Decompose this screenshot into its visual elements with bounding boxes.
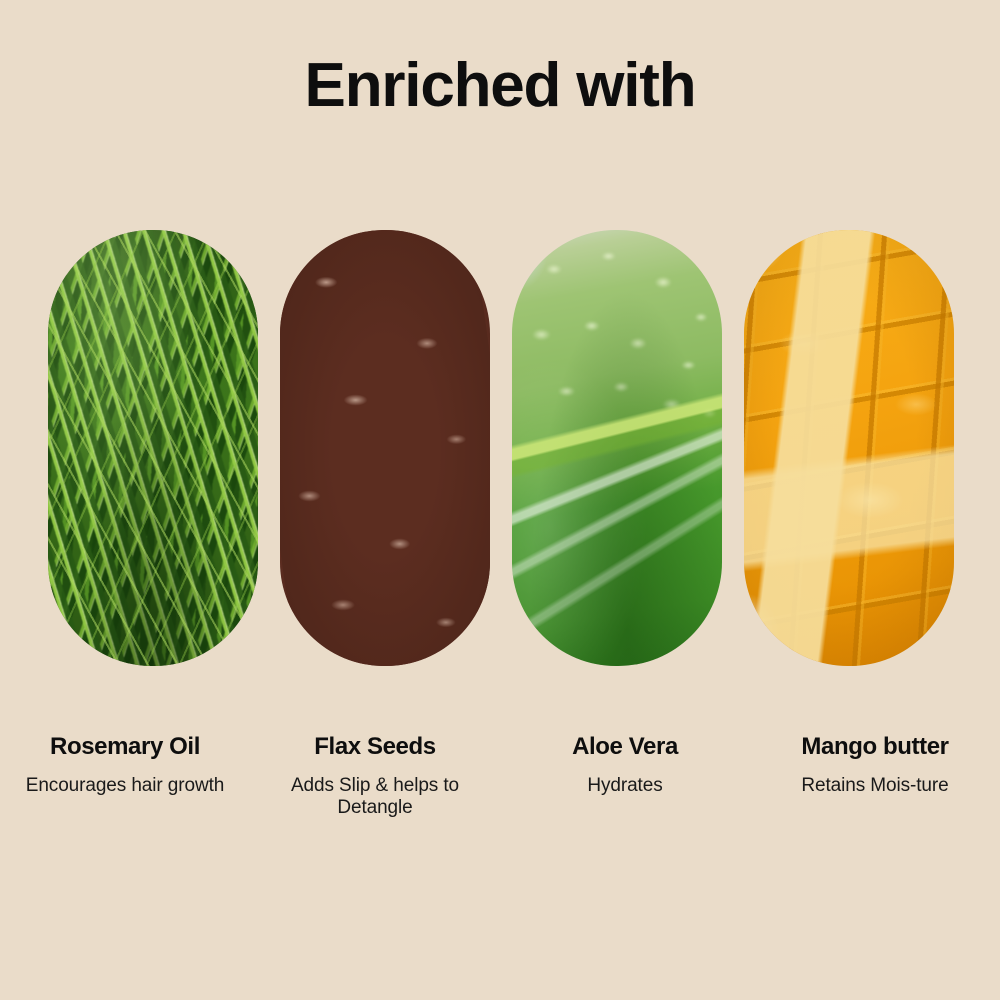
ingredient-name-rosemary-oil: Rosemary Oil bbox=[6, 733, 244, 762]
ingredient-card-aloe-vera bbox=[512, 230, 722, 666]
ingredient-name-mango-butter: Mango butter bbox=[756, 733, 994, 762]
rosemary-sprigs-photo bbox=[48, 230, 258, 666]
ingredient-description-rosemary-oil: Encourages hair growth bbox=[6, 775, 244, 797]
page-title: Enriched with bbox=[0, 52, 1000, 120]
ingredient-card-mango-butter bbox=[744, 230, 954, 666]
ingredient-caption-row: Rosemary Oil Encourages hair growth Flax… bbox=[0, 733, 1000, 820]
ingredient-name-flax-seeds: Flax Seeds bbox=[256, 733, 494, 762]
flax-seeds-photo bbox=[280, 230, 490, 666]
ingredient-caption-aloe-vera: Aloe Vera Hydrates bbox=[500, 733, 750, 820]
ingredient-caption-flax-seeds: Flax Seeds Adds Slip & helps to Detangle bbox=[250, 733, 500, 820]
ingredient-description-flax-seeds: Adds Slip & helps to Detangle bbox=[256, 775, 494, 820]
ingredient-card-rosemary-oil bbox=[48, 230, 258, 666]
cubed-mango-photo bbox=[744, 230, 954, 666]
ingredient-caption-rosemary-oil: Rosemary Oil Encourages hair growth bbox=[0, 733, 250, 820]
ingredient-caption-mango-butter: Mango butter Retains Mois-ture bbox=[750, 733, 1000, 820]
enriched-with-panel: Enriched with Rosemary Oil Encourages ha… bbox=[0, 0, 1000, 1000]
ingredient-card-flax-seeds bbox=[280, 230, 490, 666]
ingredient-name-aloe-vera: Aloe Vera bbox=[506, 733, 744, 762]
ingredient-image-row bbox=[48, 230, 954, 666]
ingredient-description-mango-butter: Retains Mois-ture bbox=[756, 775, 994, 797]
ingredient-description-aloe-vera: Hydrates bbox=[506, 775, 744, 797]
aloe-vera-leaf-photo bbox=[512, 230, 722, 666]
